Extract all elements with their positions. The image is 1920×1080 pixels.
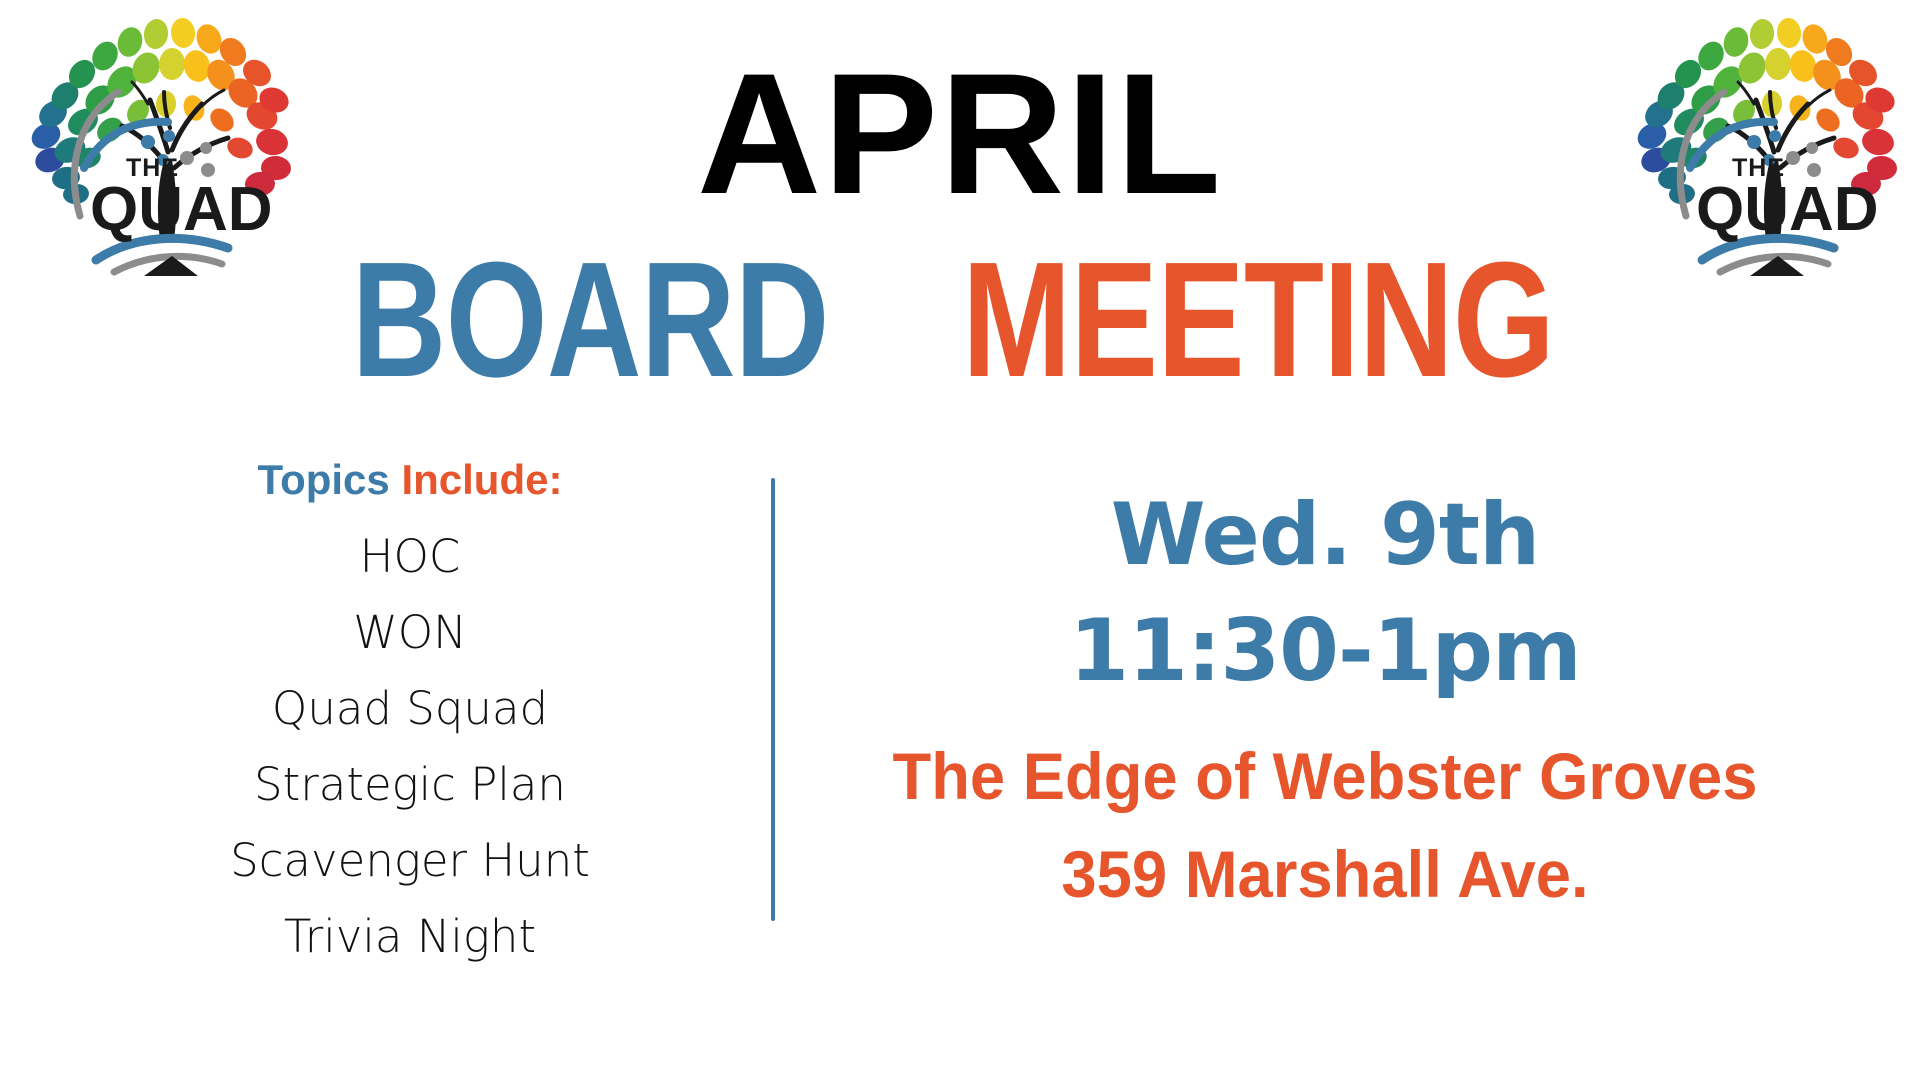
headline-word-meeting: MEETING [962,238,1554,402]
list-item: HOC [80,519,740,595]
topics-heading-secondary: Include: [401,456,562,503]
flyer-canvas: THE QUAD [0,0,1920,1080]
meeting-venue: The Edge of Webster Groves [821,730,1829,824]
topics-section: Topics Include: HOC WON Quad Squad Strat… [80,455,740,975]
headline-word-board: BOARD [351,238,828,402]
meeting-date: Wed. 9th [800,480,1850,590]
list-item: Strategic Plan [80,747,740,823]
meeting-details-section: Wed. 9th 11:30-1pm The Edge of Webster G… [800,480,1850,922]
topics-list: HOC WON Quad Squad Strategic Plan Scaven… [80,519,740,975]
meeting-time: 11:30-1pm [800,596,1850,706]
list-item: Trivia Night [80,899,740,975]
headline-board-meeting: BOARDMEETING [0,238,1920,402]
list-item: Scavenger Hunt [80,823,740,899]
topics-heading: Topics Include: [80,455,740,505]
headline-month: APRIL [0,48,1920,220]
meeting-address: 359 Marshall Ave. [821,828,1829,922]
list-item: Quad Squad [80,671,740,747]
topics-heading-primary: Topics [258,456,390,503]
list-item: WON [80,595,740,671]
vertical-divider [771,478,775,921]
